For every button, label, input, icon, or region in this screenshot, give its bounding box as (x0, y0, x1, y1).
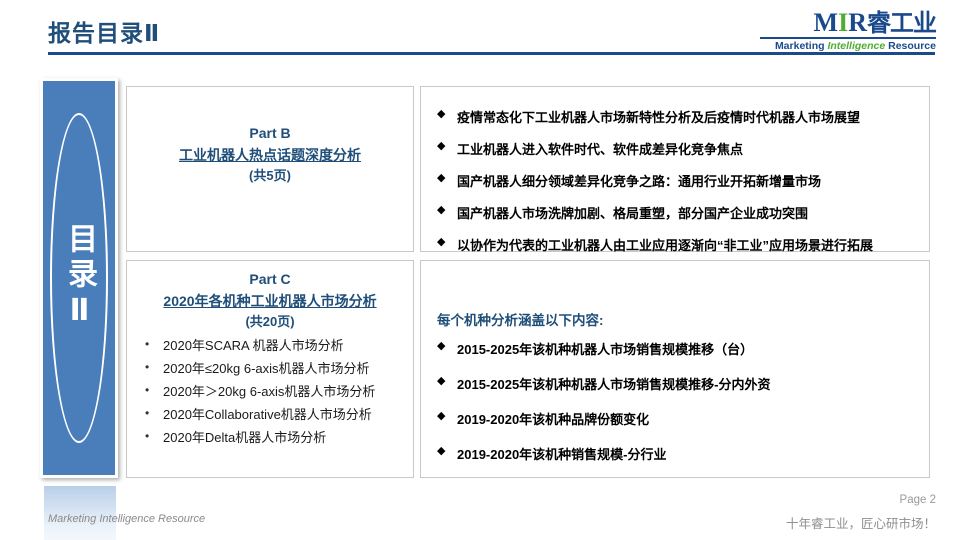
part-b-heading-group: Part B 工业机器人热点话题深度分析 (共5页) (127, 87, 413, 187)
list-item: 疫情常态化下工业机器人市场新特性分析及后疫情时代机器人市场展望 (437, 107, 873, 126)
logo-cjk-name: 睿工业 (867, 10, 936, 37)
logo-letter-i: I (838, 8, 848, 37)
part-b-topics-card: 疫情常态化下工业机器人市场新特性分析及后疫情时代机器人市场展望 工业机器人进入软… (420, 86, 930, 252)
list-item: 2015-2025年该机种机器人市场销售规模推移（台） (437, 339, 771, 358)
part-b-topic-list: 疫情常态化下工业机器人市场新特性分析及后疫情时代机器人市场展望 工业机器人进入软… (437, 107, 873, 267)
logo-wordmark: MIR睿工业 (736, 9, 936, 36)
list-item: 2020年≤20kg 6-axis机器人市场分析 (145, 362, 413, 375)
part-b-subtitle: 工业机器人热点话题深度分析 (127, 145, 413, 167)
part-c-title: Part C (127, 269, 413, 291)
logo-letter-r: R (848, 8, 867, 37)
tagline-part-1: Marketing (775, 40, 828, 52)
page-title: 报告目录Ⅱ (48, 14, 160, 48)
tagline-part-3: Resource (885, 40, 936, 52)
part-c-subtitle: 2020年各机种工业机器人市场分析 (127, 291, 413, 313)
page-header: 报告目录Ⅱ MIR睿工业 Marketing Intelligence Reso… (0, 0, 960, 58)
part-c-page-count: (共20页) (127, 312, 413, 332)
list-item: 2019-2020年该机种销售规模-分行业 (437, 444, 771, 463)
toc-sidebar-banner: 目录Ⅱ (40, 78, 118, 478)
part-c-card: Part C 2020年各机种工业机器人市场分析 (共20页) 2020年SCA… (126, 260, 414, 478)
coverage-bullet-list: 2015-2025年该机种机器人市场销售规模推移（台） 2015-2025年该机… (437, 339, 771, 479)
footer-slogan: 十年睿工业，匠心研市场！ (786, 513, 936, 532)
list-item: 2015-2025年该机种机器人市场销售规模推移-分内外资 (437, 374, 771, 393)
logo-letter-m: M (814, 8, 839, 37)
logo-underline (760, 37, 936, 39)
part-b-page-count: (共5页) (127, 166, 413, 186)
tagline-part-2: Intelligence (827, 40, 885, 52)
part-c-heading-group: Part C 2020年各机种工业机器人市场分析 (共20页) (127, 261, 413, 333)
part-b-title: Part B (127, 123, 413, 145)
list-item: 2019-2020年该机种品牌份额变化 (437, 409, 771, 428)
part-c-item-list: 2020年SCARA 机器人市场分析 2020年≤20kg 6-axis机器人市… (127, 339, 413, 444)
list-item: 工业机器人进入软件时代、软件成差异化竞争焦点 (437, 139, 873, 158)
list-item: 以协作为代表的工业机器人由工业应用逐渐向“非工业”应用场景进行拓展 (437, 235, 873, 254)
part-c-coverage-card: 每个机种分析涵盖以下内容: 2015-2025年该机种机器人市场销售规模推移（台… (420, 260, 930, 478)
footer-tagline: Marketing Intelligence Resource (48, 513, 205, 525)
logo-tagline: Marketing Intelligence Resource (736, 41, 936, 53)
coverage-heading: 每个机种分析涵盖以下内容: (437, 309, 604, 329)
sidebar-vertical-label: 目录Ⅱ (64, 223, 94, 333)
list-item: 2020年SCARA 机器人市场分析 (145, 339, 413, 352)
list-item: 2020年Collaborative机器人市场分析 (145, 408, 413, 421)
mir-logo: MIR睿工业 Marketing Intelligence Resource (736, 9, 936, 53)
list-item: 2020年＞20kg 6-axis机器人市场分析 (145, 385, 413, 398)
part-b-card: Part B 工业机器人热点话题深度分析 (共5页) (126, 86, 414, 252)
page-number: Page 2 (900, 494, 936, 506)
list-item: 国产机器人细分领域差异化竞争之路：通用行业开拓新增量市场 (437, 171, 873, 190)
list-item: 国产机器人市场洗牌加剧、格局重塑，部分国产企业成功突围 (437, 203, 873, 222)
list-item: 2020年Delta机器人市场分析 (145, 431, 413, 444)
